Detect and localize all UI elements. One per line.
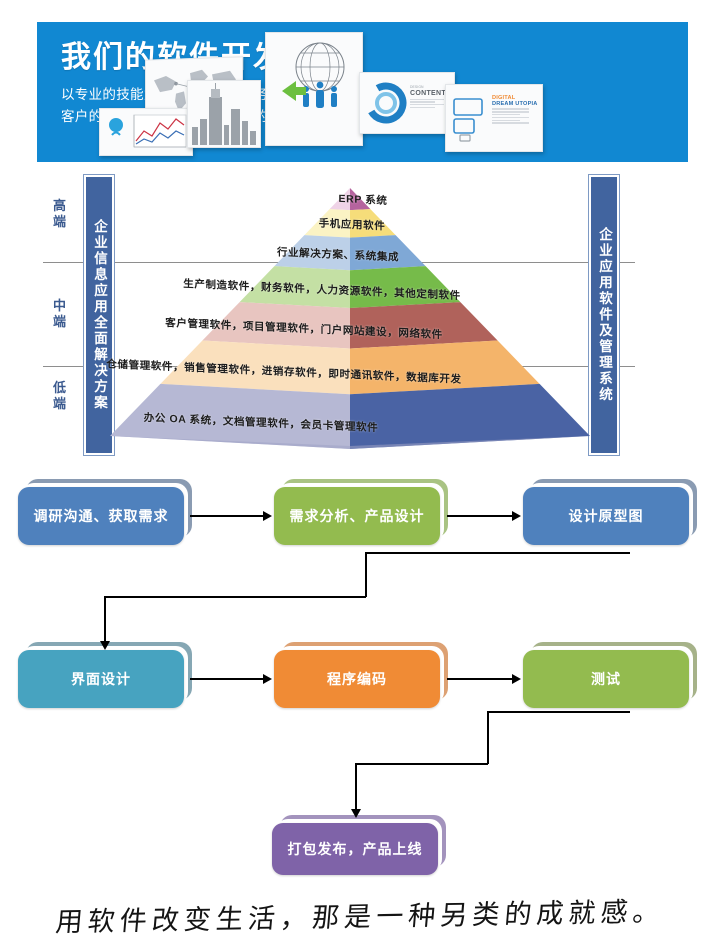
- connector-arrow-coding-to-testing: [512, 674, 521, 684]
- connector-arrow-prototype-to-ui: [100, 641, 110, 650]
- flow-node-coding[interactable]: 程序编码: [274, 650, 440, 708]
- flow-node-prototype-label: 设计原型图: [523, 487, 689, 545]
- city-skyline-icon: [188, 81, 260, 147]
- connector-prototype-to-ui-h1: [365, 552, 630, 554]
- flow-node-research-label: 调研沟通、获取需求: [18, 487, 184, 545]
- flow-node-ui-design[interactable]: 界面设计: [18, 650, 184, 708]
- flow-node-release[interactable]: 打包发布，产品上线: [272, 823, 438, 875]
- utopia-rule-1: [492, 108, 529, 109]
- pyramid-shape: ERP 系统手机应用软件行业解决方案、系统集成生产制造软件，财务软件，人力资源软…: [100, 184, 600, 449]
- connector-prototype-to-ui-v2: [104, 596, 106, 643]
- collage-panel-utopia: DIGITAL DREAM UTOPIA: [445, 84, 543, 152]
- flow-node-testing-label: 测试: [523, 650, 689, 708]
- utopia-rule-3: [492, 114, 520, 115]
- flow-node-requirements[interactable]: 需求分析、产品设计: [274, 487, 440, 545]
- connector-arrow-ui-to-coding: [263, 674, 272, 684]
- globe-people-icon: [266, 33, 362, 145]
- connector-prototype-to-ui-v1: [365, 552, 367, 597]
- line-chart-icon: [100, 109, 192, 155]
- connector-prototype-to-ui-h2: [104, 596, 366, 598]
- flow-node-requirements-label: 需求分析、产品设计: [274, 487, 440, 545]
- connector-research-to-requirements: [190, 515, 264, 517]
- collage-panel-contents: DESIGN CONTENTS: [359, 72, 455, 134]
- utopia-rule-2: [492, 111, 529, 112]
- contents-rule-3: [410, 104, 444, 105]
- connector-arrow-requirements-to-prototype: [512, 511, 521, 521]
- connector-testing-to-release-h2: [355, 763, 488, 765]
- connector-coding-to-testing: [447, 678, 513, 680]
- connector-arrow-testing-to-release: [351, 809, 361, 818]
- utopia-rule-6: [492, 122, 529, 123]
- pyramid-layer-2-label: 手机应用软件: [318, 215, 385, 233]
- process-flowchart: 调研沟通、获取需求 需求分析、产品设计 设计原型图 界面设计 程序编码 测试 打…: [0, 465, 721, 890]
- connector-requirements-to-prototype: [447, 515, 513, 517]
- flow-node-testing[interactable]: 测试: [523, 650, 689, 708]
- flow-node-coding-label: 程序编码: [274, 650, 440, 708]
- collage-panel-city-skyline: [187, 80, 261, 148]
- tier-label-low: 低端: [47, 380, 73, 413]
- connector-arrow-research-to-requirements: [263, 511, 272, 521]
- utopia-rule-5: [492, 120, 520, 121]
- tier-label-high: 高端: [47, 198, 73, 231]
- collage-panel-line-chart: [99, 108, 193, 156]
- flow-node-ui-design-label: 界面设计: [18, 650, 184, 708]
- connector-testing-to-release-v2: [355, 763, 357, 811]
- pyramid-layer-7-right-face: [350, 384, 590, 449]
- contents-rule-2: [410, 101, 435, 102]
- connector-ui-to-coding: [190, 678, 264, 680]
- utopia-heading-2: DREAM UTOPIA: [492, 101, 538, 107]
- utopia-rule-4: [492, 117, 529, 118]
- flow-node-prototype[interactable]: 设计原型图: [523, 487, 689, 545]
- contents-rule-4: [410, 107, 435, 108]
- tier-label-mid: 中端: [47, 298, 73, 331]
- flow-node-research[interactable]: 调研沟通、获取需求: [18, 487, 184, 545]
- pyramid-right-faces: [350, 188, 590, 449]
- connector-testing-to-release-h1: [487, 711, 630, 713]
- footer-handwritten-note: 用软件改变生活，那是一种另类的成就感。: [0, 882, 721, 946]
- pyramid-diagram: 高端 中端 低端 企业信息应用全面解决方案 企业应用软件及管理系统 ERP 系统…: [0, 170, 721, 465]
- header-banner: 我们的软件开发 以专业的技能为企业提供全程服务，满足 客户的差异化以及持续发展变…: [37, 22, 688, 162]
- pyramid-layer-1-label: ERP 系统: [338, 191, 387, 208]
- flow-node-release-label: 打包发布，产品上线: [272, 823, 438, 875]
- devices-icon: [450, 97, 490, 143]
- contents-rule-1: [410, 99, 444, 100]
- collage-panel-globe-people: [265, 32, 363, 146]
- connector-testing-to-release-v1: [487, 711, 489, 764]
